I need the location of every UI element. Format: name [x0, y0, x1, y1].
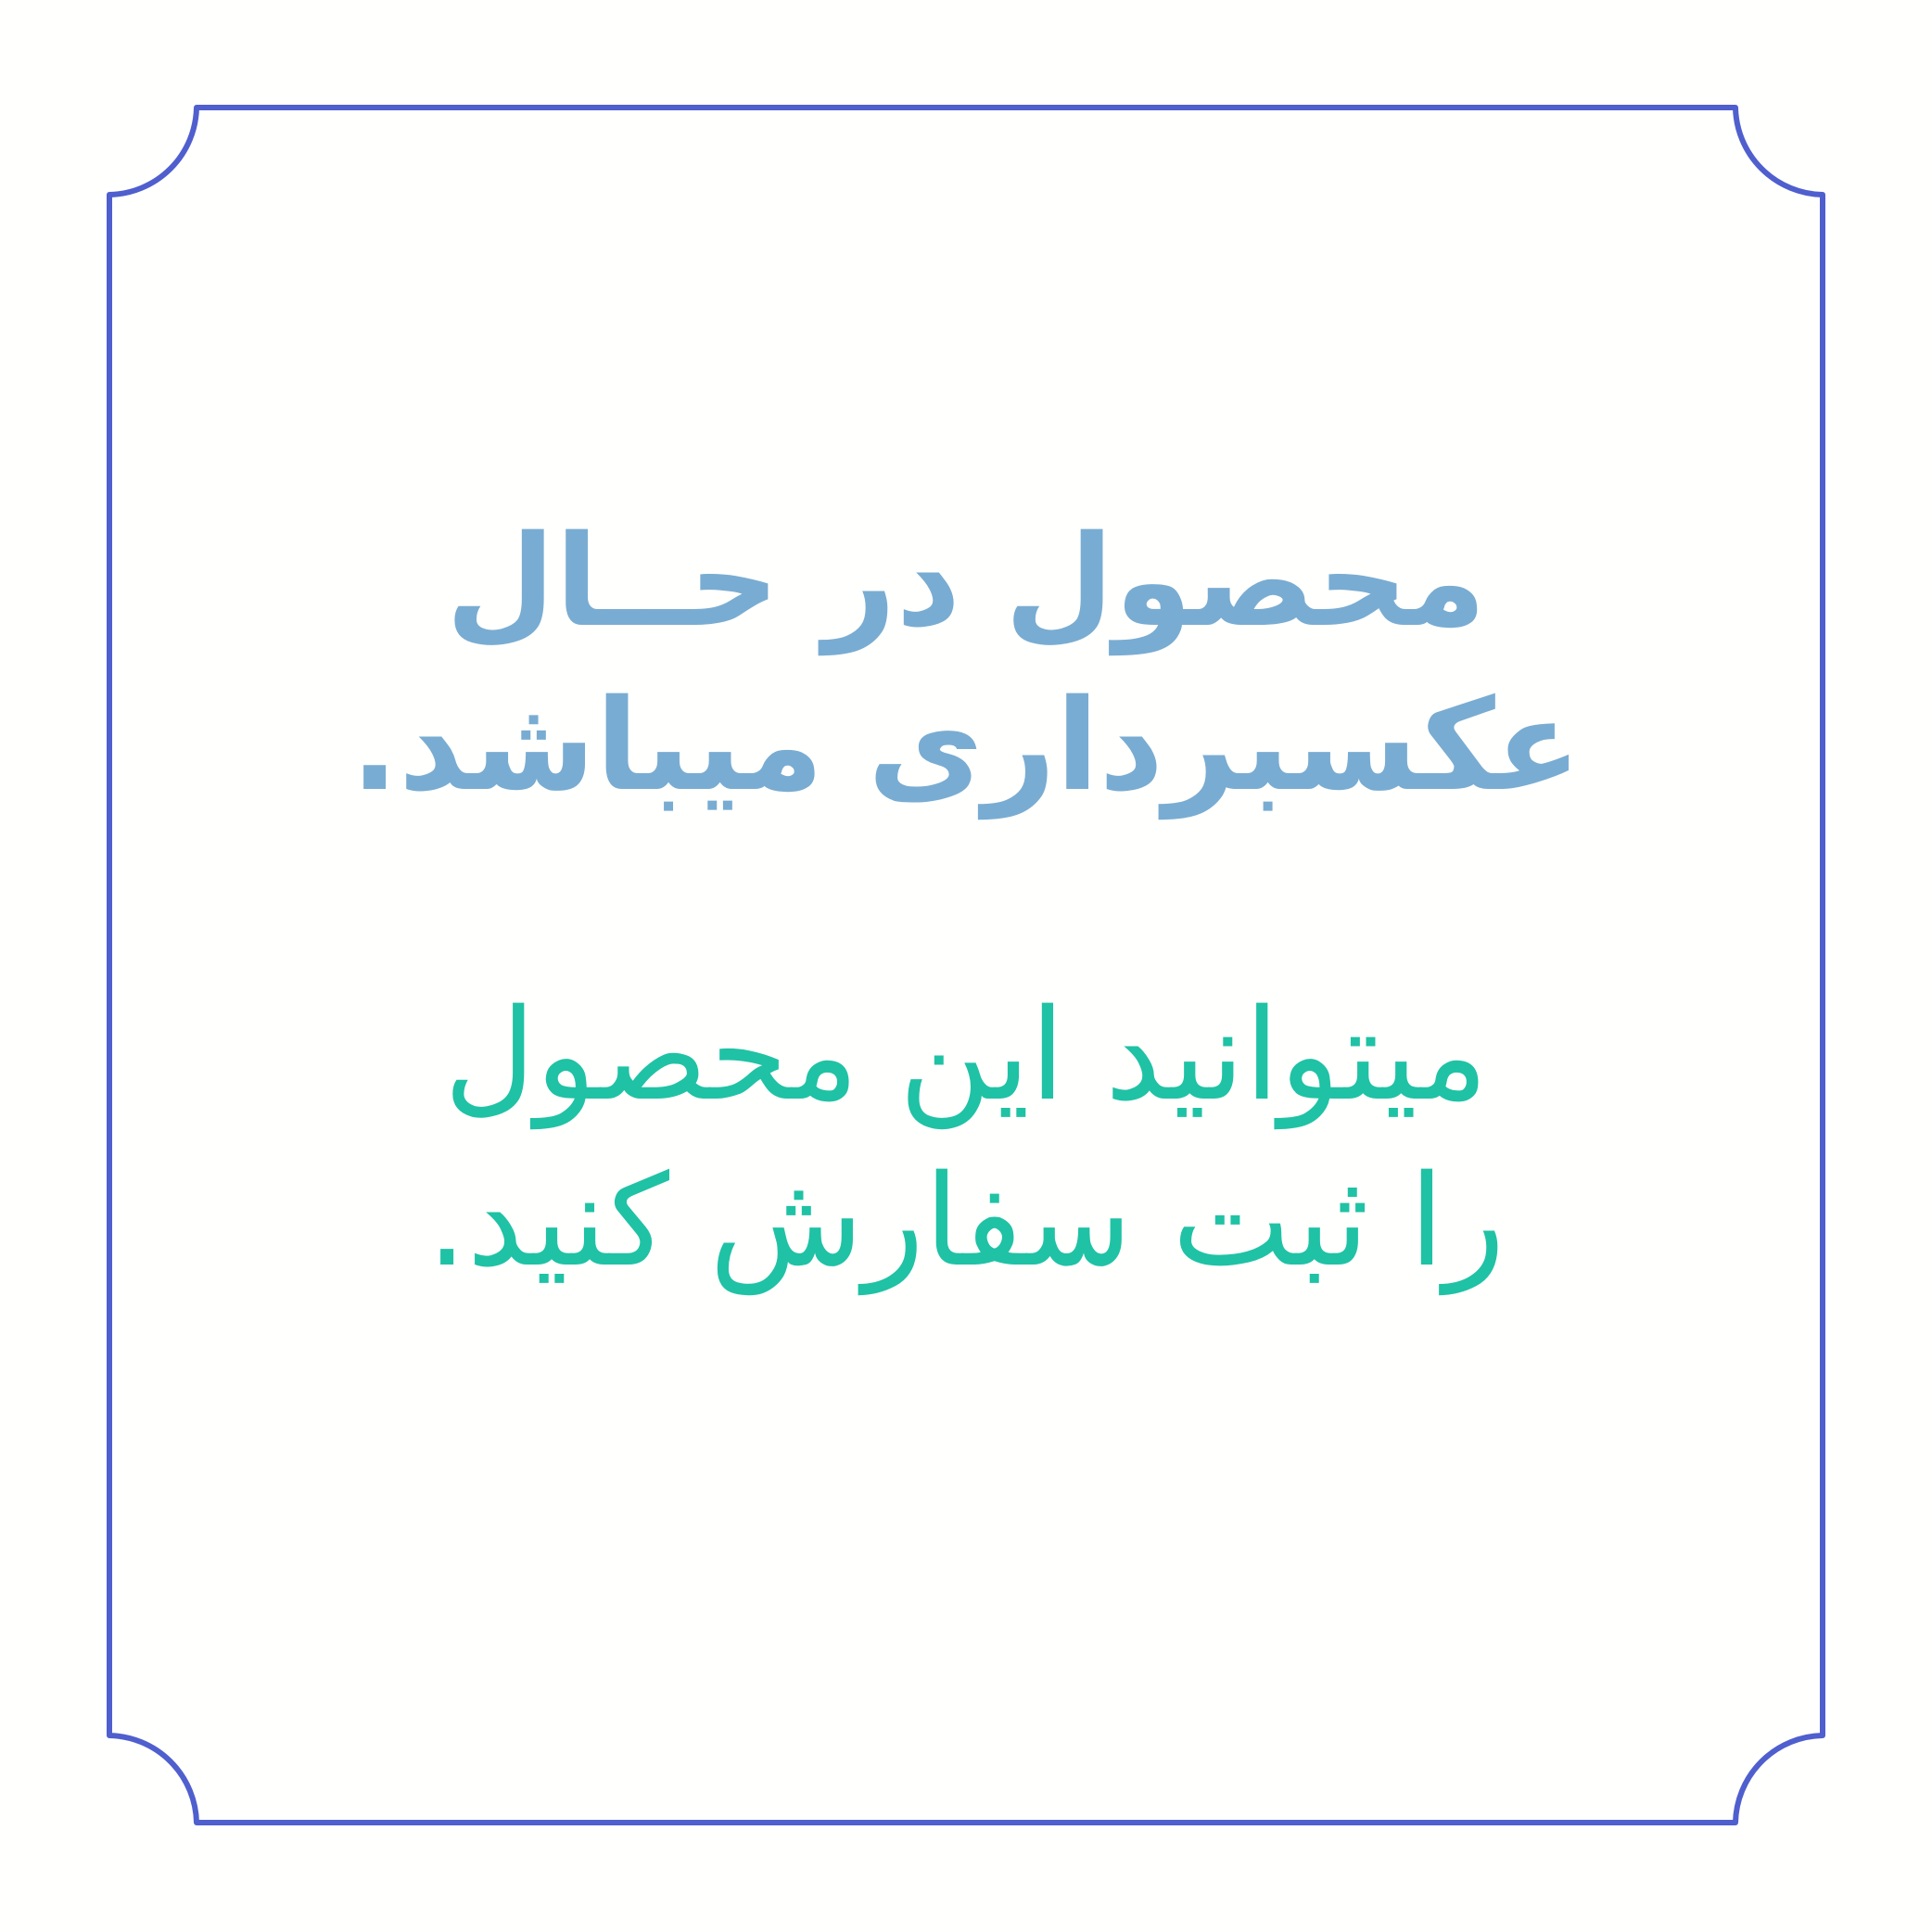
product-image-placeholder-card: محصول در حــال عکسبرداری میباشد. میتوانی…: [0, 0, 1932, 1932]
order-message-line-2: را ثبت سفارش کنید.: [243, 1139, 1689, 1306]
status-message: محصول در حــال عکسبرداری میباشد.: [243, 501, 1689, 829]
status-message-line-2: عکسبرداری میباشد.: [243, 665, 1689, 829]
order-message: میتوانید این محصول را ثبت سفارش کنید.: [243, 829, 1689, 1306]
status-message-line-1: محصول در حــال: [243, 501, 1689, 665]
message-stack: محصول در حــال عکسبرداری میباشد. میتوانی…: [0, 501, 1932, 1306]
order-message-line-1: میتوانید این محصول: [243, 973, 1689, 1140]
